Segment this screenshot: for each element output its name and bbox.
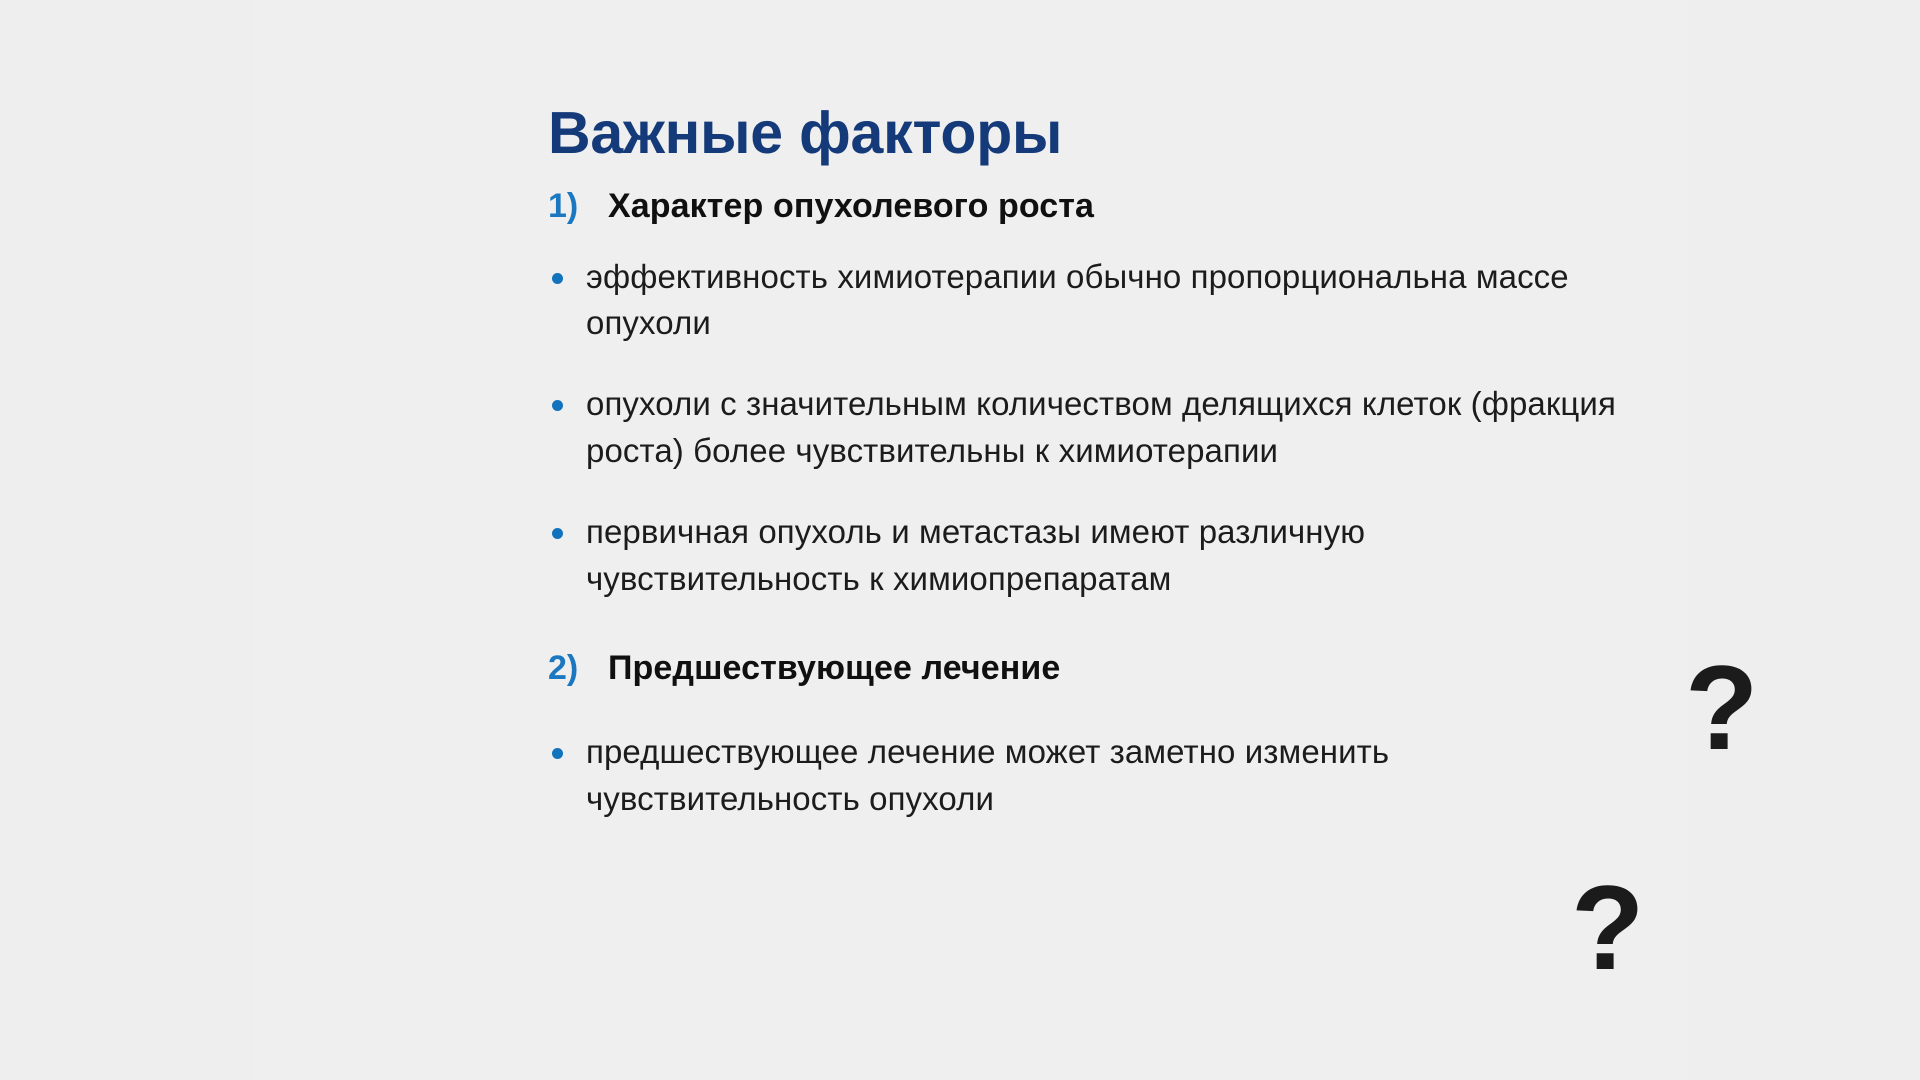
bullet-dot-icon bbox=[548, 254, 586, 300]
slide-surface: Важные факторы 1) Характер опухолевого р… bbox=[253, 0, 1687, 1080]
bullet-dot-icon bbox=[548, 381, 586, 427]
question-mark-icon-2: ? bbox=[1571, 868, 1644, 988]
section-title-1: Характер опухолевого роста bbox=[608, 185, 1094, 228]
list-item: первичная опухоль и метастазы имеют разл… bbox=[548, 509, 1908, 603]
bullet-text: предшествующее лечение может заметно изм… bbox=[586, 729, 1646, 823]
bullet-text: опухоли с значительным количеством делящ… bbox=[586, 381, 1646, 475]
slide-canvas: Важные факторы 1) Характер опухолевого р… bbox=[0, 0, 1920, 1080]
bullet-text: эффективность химиотерапии обычно пропор… bbox=[586, 254, 1646, 348]
section-number-2: 2) bbox=[548, 647, 608, 690]
section-title-2: Предшествующее лечение bbox=[608, 647, 1060, 690]
question-mark-icon-1: ? bbox=[1685, 648, 1758, 768]
list-item: эффективность химиотерапии обычно пропор… bbox=[548, 254, 1908, 348]
bullet-text: первичная опухоль и метастазы имеют разл… bbox=[586, 509, 1646, 603]
bullet-dot-icon bbox=[548, 729, 586, 775]
bullet-dot-icon bbox=[548, 509, 586, 555]
section-number-1: 1) bbox=[548, 185, 608, 228]
section-heading-1: 1) Характер опухолевого роста bbox=[548, 185, 1908, 228]
page-title: Важные факторы bbox=[548, 104, 1908, 163]
list-item: опухоли с значительным количеством делящ… bbox=[548, 381, 1908, 475]
